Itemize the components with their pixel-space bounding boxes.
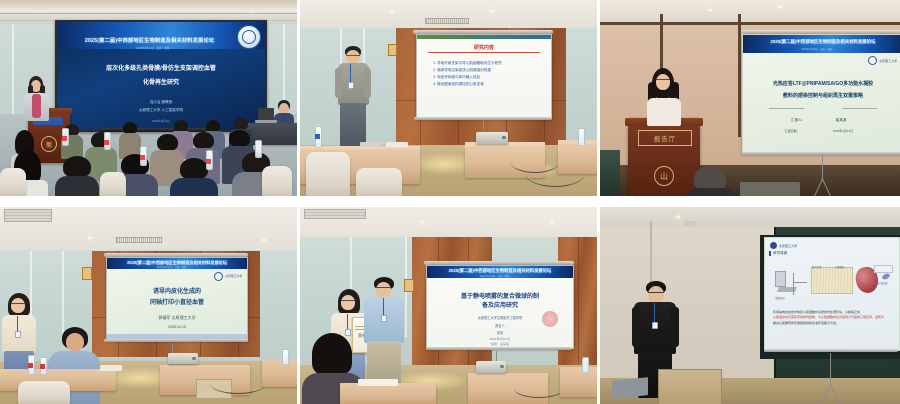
bullet-item: 4. 微米图案结构调控的心肌发育	[433, 81, 543, 88]
room-scene-1: 2025(第二届)中西部地区生物制造及相关材料发展论坛 2025年4月14日 ·…	[0, 0, 297, 196]
banner-title: 2025(第二届)中西部地区生物制造及相关材料发展论坛	[63, 37, 236, 44]
glasses-icon	[11, 303, 25, 306]
paper	[386, 142, 408, 147]
university-seal-icon	[214, 272, 223, 281]
room-scene-3: 2025(第二届)中西部地区生物制造及相关材料发展论坛 2025年4月14日 ·…	[600, 0, 900, 196]
room-scene-2: 研究内容 1. 导电纤维支架引导心肌细胞取向生长研究 2. 微纳导电支架促进心肌…	[300, 0, 597, 196]
photo-grid: 2025(第二届)中西部地区生物制造及相关材料发展论坛 2025年4月14日 ·…	[0, 0, 900, 404]
reporter-label: 汇报人：	[791, 118, 805, 123]
glasses-icon	[341, 300, 355, 303]
slide-content-1: 2025(第二届)中西部地区生物制造及相关材料发展论坛 2025年4月14日 ·…	[57, 22, 265, 130]
slide-title-line2: 同轴打印小直径血管	[115, 297, 238, 306]
presenter-person	[642, 68, 686, 124]
slide-content-6: 太原理工大学 研究背景 取向纤维 心肌细胞	[765, 238, 899, 350]
banner-subtitle: 2025年4月14日 · 太原 · 中国	[121, 265, 222, 269]
glasses-icon	[656, 79, 670, 82]
date-value: 2025年4月14日	[833, 129, 854, 133]
room-scene-5: 2025(第二届)中西部地区生物制造及相关材料发展论坛 2025年4月14日 ·…	[300, 207, 597, 404]
university-logo: 太原理工大学	[868, 56, 897, 65]
presentation-screen-3[interactable]: 2025(第二届)中西部地区生物制造及相关材料发展论坛 2025年4月14日 ·…	[742, 34, 900, 154]
slide-speaker: 连小洁 副教授	[69, 100, 252, 105]
paper	[100, 365, 122, 371]
room-scene-6: 太原理工大学 研究背景 取向纤维 心肌细胞	[600, 207, 900, 404]
slide-content-3: 2025(第二届)中西部地区生物制造及相关材料发展论坛 2025年4月14日 ·…	[743, 35, 900, 153]
wall-plaque	[82, 267, 92, 280]
slide-title-line1: 光热应答LTF@PNIPAM/SA/GO多功能水凝胶	[753, 80, 894, 87]
chair	[306, 152, 350, 196]
photo-panel-4[interactable]: 2025(第二届)中西部地区生物制造及相关材料发展论坛 2025年4月14日 ·…	[0, 207, 297, 404]
glasses-icon	[376, 287, 391, 290]
water-bottle	[582, 357, 589, 373]
diagram-capsule	[881, 272, 890, 280]
university-name: 太原理工大学	[225, 274, 242, 278]
slide-speaker: 张某	[436, 330, 565, 335]
university-seal-icon	[770, 242, 777, 249]
photo-panel-1[interactable]: 2025(第二届)中西部地区生物制造及相关材料发展论坛 2025年4月14日 ·…	[0, 0, 297, 196]
diagram-label: 静电纺丝	[775, 296, 785, 300]
table	[560, 367, 597, 397]
slide-heading: 研究内容	[425, 44, 543, 51]
section-label: 研究背景	[769, 251, 787, 256]
table	[340, 383, 436, 404]
diagram-device	[775, 271, 786, 287]
presentation-screen-6[interactable]: 太原理工大学 研究背景 取向纤维 心肌细胞	[764, 237, 900, 351]
photo-panel-5[interactable]: 2025(第二届)中西部地区生物制造及相关材料发展论坛 2025年4月14日 ·…	[300, 207, 597, 404]
diagram-fiber-mat	[811, 267, 853, 294]
award-presenter-person	[362, 277, 406, 385]
university-logo: 太原理工大学	[214, 272, 242, 281]
slide-title-line1: 基于静电喷雾的复合微球的制	[436, 291, 565, 300]
cable	[210, 373, 266, 394]
water-bottle	[282, 349, 289, 365]
projector[interactable]	[168, 353, 198, 364]
table	[558, 146, 597, 174]
photo-panel-6[interactable]: 太原理工大学 研究背景 取向纤维 心肌细胞	[600, 207, 900, 404]
presenter-person	[335, 46, 371, 146]
ceiling-vent	[116, 237, 162, 243]
diagram-label: 取向心肌组织	[874, 281, 887, 285]
notepad	[360, 142, 382, 147]
glasses-icon	[346, 55, 360, 58]
ceiling-beam	[0, 0, 297, 12]
banner-title: 2025(第二届)中西部地区生物制造及相关材料发展论坛	[748, 39, 898, 45]
lectern-nameplate: 报告厅	[638, 130, 692, 146]
presentation-screen-4[interactable]: 2025(第二届)中西部地区生物制造及相关材料发展论坛 2025年4月14日 ·…	[106, 257, 248, 341]
attendee-person	[686, 166, 736, 196]
university-logo: 太原理工大学	[770, 242, 797, 249]
cardboard-box	[658, 369, 722, 404]
bullet-item: 3. 电信号刺激与体内植入效应	[433, 74, 543, 81]
slide-content-2: 研究内容 1. 导电纤维支架引导心肌细胞取向生长研究 2. 微纳导电支架促进心肌…	[417, 35, 551, 118]
wall-trim	[600, 22, 900, 25]
slide-title-line2: 化骨再生研究	[69, 77, 252, 86]
slide-title-line2: 备及应用研究	[436, 300, 565, 309]
slide-title-line2: 敷料的感染控制与组织再生双重策略	[753, 92, 894, 99]
slide-mentor: 指导：某某某	[436, 342, 565, 346]
ceiling-vent	[4, 209, 52, 222]
banner-subtitle: 2025年4月14日 · 太原 · 中国	[442, 274, 547, 278]
chair-back	[740, 182, 800, 196]
projector[interactable]	[476, 361, 506, 373]
cable	[514, 379, 564, 398]
water-bottle	[578, 128, 585, 146]
university-seal-icon	[868, 56, 877, 65]
presentation-screen-5[interactable]: 2025(第二届)中西部地区生物制造及相关材料发展论坛 2025年4月14日 ·…	[426, 265, 574, 349]
presentation-screen-2[interactable]: 研究内容 1. 导电纤维支架引导心肌细胞取向生长研究 2. 微纳导电支架促进心肌…	[416, 34, 552, 119]
side-panel	[600, 150, 620, 196]
bullet-item: 2. 微纳导电支架促进心肌微组织构建	[433, 67, 543, 74]
banner-subtitle: 2025年4月14日 · 太原 · 中国	[759, 47, 874, 51]
glasses-icon	[648, 292, 664, 295]
ceiling-vent	[425, 18, 469, 24]
slide-speaker: 郭福军 太原理工大学	[115, 315, 238, 321]
slide-bullet-list: 1. 导电纤维支架引导心肌细胞取向生长研究 2. 微纳导电支架促进心肌微组织构建…	[433, 60, 543, 89]
diagram-label: 取向纤维	[812, 265, 822, 269]
presenter-person	[20, 76, 54, 120]
table	[262, 359, 297, 387]
ceiling-fixture	[684, 221, 696, 226]
slide-date: 2025.04.15	[115, 325, 238, 329]
room-scene-4: 2025(第二届)中西部地区生物制造及相关材料发展论坛 2025年4月14日 ·…	[0, 207, 297, 404]
slide-body-text: 利用静电纺丝技术构建心肌细胞外基质的仿生微环境，以模拟正常 心肌组织中高度有序的…	[773, 310, 891, 327]
slide-date: 2025年4月14日	[436, 337, 565, 341]
wall-trim	[738, 14, 741, 137]
ceiling-line	[0, 13, 297, 14]
chair	[356, 168, 402, 196]
date-label: 汇报日期：	[785, 129, 800, 133]
photo-panel-3[interactable]: 2025(第二届)中西部地区生物制造及相关材料发展论坛 2025年4月14日 ·…	[600, 0, 900, 196]
chair	[0, 168, 26, 196]
slide-title-line1: 诱导内皮化生成的	[115, 286, 238, 295]
water-bottle	[255, 140, 262, 158]
banner-subtitle: 2025年4月14日 · 太原 · 中国	[78, 46, 228, 50]
body-line-3: 解决心肌梗死修复难题提供新的治疗思路与方法。	[773, 321, 891, 327]
slide-content-4: 2025(第二届)中西部地区生物制造及相关材料发展论坛 2025年4月14日 ·…	[107, 258, 247, 340]
laptop	[612, 377, 648, 399]
slide-diagram: 取向纤维 心肌细胞 取向心肌组织 静电纺丝	[773, 265, 891, 305]
slide-affiliation: 太原理工大学 人工智能学院	[69, 108, 252, 113]
university-name: 太原理工大学	[779, 244, 797, 248]
papers	[358, 379, 398, 386]
reporter-name: 崔某某	[836, 118, 847, 123]
slide-content-5: 2025(第二届)中西部地区生物制造及相关材料发展论坛 2025年4月14日 ·…	[427, 266, 573, 348]
university-seal-icon	[237, 25, 261, 49]
slide-title-line1: 层次化多级孔类骨膜/骨仿生支架调控血管	[69, 63, 252, 72]
wall-plaque	[388, 44, 397, 56]
chair	[100, 172, 126, 196]
university-name: 太原理工大学	[879, 59, 897, 63]
ceiling-vent	[304, 209, 366, 219]
projector[interactable]	[476, 132, 508, 144]
chair	[18, 381, 70, 404]
chair	[262, 166, 292, 196]
presentation-display-1[interactable]: 2025(第二届)中西部地区生物制造及相关材料发展论坛 2025年4月14日 ·…	[55, 20, 267, 132]
bullet-item: 1. 导电纤维支架引导心肌细胞取向生长研究	[433, 60, 543, 67]
photo-panel-2[interactable]: 研究内容 1. 导电纤维支架引导心肌细胞取向生长研究 2. 微纳导电支架促进心肌…	[300, 0, 597, 196]
laptop	[258, 108, 274, 120]
diagram-label: 心肌细胞	[834, 265, 844, 269]
